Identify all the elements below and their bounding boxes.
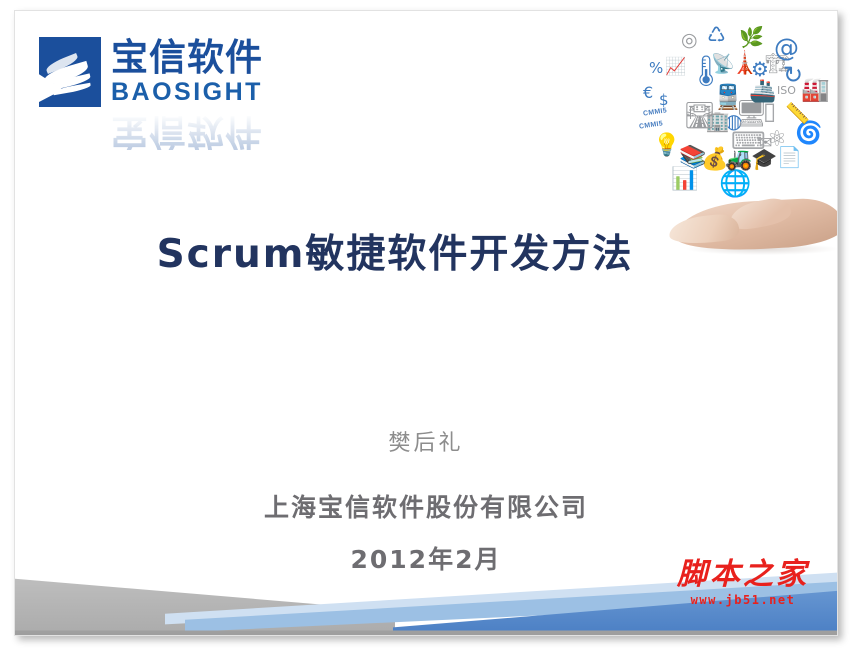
logo-main: 宝信软件 BAOSIGHT	[39, 33, 301, 111]
leaf-icon: 🌿	[739, 27, 764, 47]
byline-block: 樊后礼 上海宝信软件股份有限公司 2012年2月	[15, 429, 837, 576]
logo-reflection: 宝信软件 BAOSIGHT	[39, 112, 301, 150]
baosight-mark-icon	[39, 37, 101, 107]
camera-icon: ◎	[681, 31, 698, 50]
slide-title: Scrum敏捷软件开发方法	[15, 223, 775, 279]
recycle-icon: ♺	[707, 25, 726, 46]
atom-icon: ⚛	[767, 129, 787, 151]
test-tube-icon: 🌡	[687, 57, 725, 87]
logo-reflection-english: BAOSIGHT	[111, 112, 301, 113]
page-canvas: 宝信软件 BAOSIGHT 宝信软件 BAOSIGHT ✉🌐📊📄🎓🚜💰📚💡🌀⚛⌨…	[0, 0, 859, 650]
refresh-arrow-icon: ↻	[783, 63, 803, 87]
dollar-icon: $	[659, 93, 669, 108]
at-sign-icon: @	[774, 35, 799, 60]
baosight-logo: 宝信软件 BAOSIGHT 宝信软件 BAOSIGHT	[39, 33, 301, 153]
cmmi-label-1: CMMI5	[643, 107, 668, 117]
books-icon: 📚	[679, 147, 706, 169]
wind-turbine-icon: 🌀	[795, 123, 822, 145]
cmmi-label-2: CMMI5	[639, 120, 664, 130]
logo-english-name: BAOSIGHT	[111, 80, 263, 105]
ruler-icon: 📏	[785, 103, 810, 123]
icon-cloud: ✉🌐📊📄🎓🚜💰📚💡🌀⚛⌨📏◍🏢🛣▯🖥🚆🏭ISO🚢$€🏗⚙🗼📡🌡📈%↻◎@🌿♺ C…	[635, 23, 825, 201]
road-icon: 🛣	[683, 103, 716, 129]
ship-icon: 🚢	[749, 81, 776, 103]
growth-chart-icon: 📈	[665, 59, 686, 76]
percent-icon: %	[649, 61, 663, 76]
presentation-slide: 宝信软件 BAOSIGHT 宝信软件 BAOSIGHT ✉🌐📊📄🎓🚜💰📚💡🌀⚛⌨…	[14, 10, 838, 636]
lightbulb-icon: 💡	[653, 135, 680, 157]
logo-wordmark: 宝信软件 BAOSIGHT	[111, 39, 263, 105]
tower-icon: 🗼	[731, 53, 758, 75]
logo-chinese-name: 宝信软件	[111, 39, 263, 76]
footer-decoration	[15, 559, 837, 635]
logo-reflection-chinese: 宝信软件	[111, 115, 301, 150]
company-name: 上海宝信软件股份有限公司	[15, 488, 837, 524]
author-name: 樊后礼	[15, 429, 837, 460]
euro-dollar-icon: €	[643, 85, 653, 101]
factory-icon: 🏭	[801, 79, 830, 102]
